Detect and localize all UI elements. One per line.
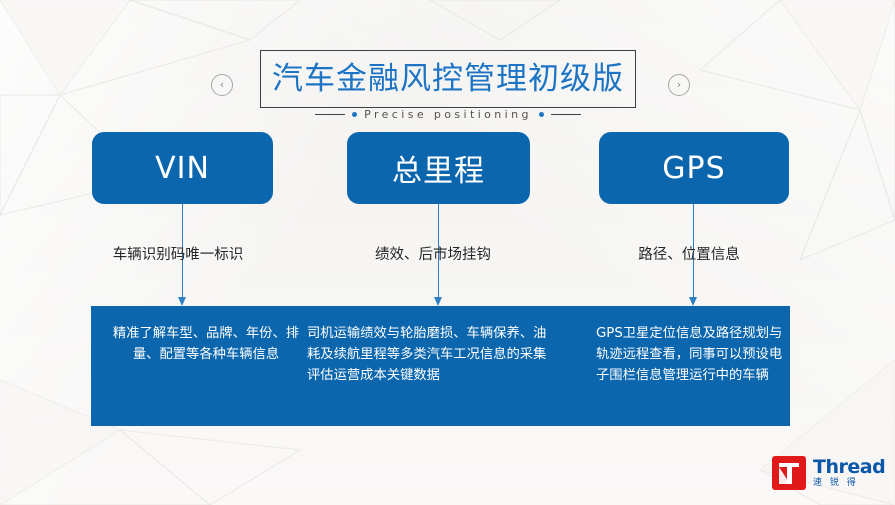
detail-panel: 精准了解车型、品牌、年份、排量、配置等各种车辆信息 司机运输绩效与轮胎磨损、车辆… (91, 306, 790, 426)
slide-canvas: ‹ › 汽车金融风控管理初级版 Precise positioning VIN … (0, 0, 895, 505)
logo-mark-stem (787, 463, 792, 484)
chevron-left-icon[interactable]: ‹ (211, 74, 233, 96)
caption-gps: 路径、位置信息 (594, 243, 784, 264)
thread-book-mark-icon (772, 456, 806, 490)
detail-text-vin: 精准了解车型、品牌、年份、排量、配置等各种车辆信息 (111, 323, 301, 365)
page-subtitle: Precise positioning (364, 108, 532, 121)
connector-arrowhead (689, 297, 697, 306)
subtitle-dash-right (551, 114, 581, 115)
subtitle-dot-right (539, 112, 544, 117)
connector-arrowhead (178, 297, 186, 306)
logo-name-cn: 速 锐 得 (813, 479, 885, 488)
chevron-right-icon[interactable]: › (668, 74, 690, 96)
detail-text-mileage: 司机运输绩效与轮胎磨损、车辆保养、油耗及续航里程等多类汽车工况信息的采集评估运营… (307, 323, 551, 386)
slide-header: ‹ › 汽车金融风控管理初级版 Precise positioning (0, 24, 895, 106)
detail-text-gps: GPS卫星定位信息及路径规划与轨迹远程查看，同事可以预设电子围栏信息管理运行中的… (596, 323, 784, 386)
page-title: 汽车金融风控管理初级版 (262, 53, 634, 98)
feature-pill-mileage[interactable]: 总里程 (347, 132, 530, 204)
subtitle-row: Precise positioning (297, 108, 599, 121)
logo-wordmark: Thread 速 锐 得 (813, 458, 885, 488)
feature-pill-vin[interactable]: VIN (92, 132, 273, 204)
subtitle-dash-left (315, 114, 345, 115)
caption-vin: 车辆识别码唯一标识 (83, 243, 273, 264)
caption-mileage: 绩效、后市场挂钩 (338, 243, 528, 264)
subtitle-dot-left (352, 112, 357, 117)
connector-arrowhead (434, 297, 442, 306)
feature-pill-gps[interactable]: GPS (599, 132, 789, 204)
brand-logo: Thread 速 锐 得 (772, 452, 886, 494)
logo-name-en: Thread (813, 458, 885, 477)
